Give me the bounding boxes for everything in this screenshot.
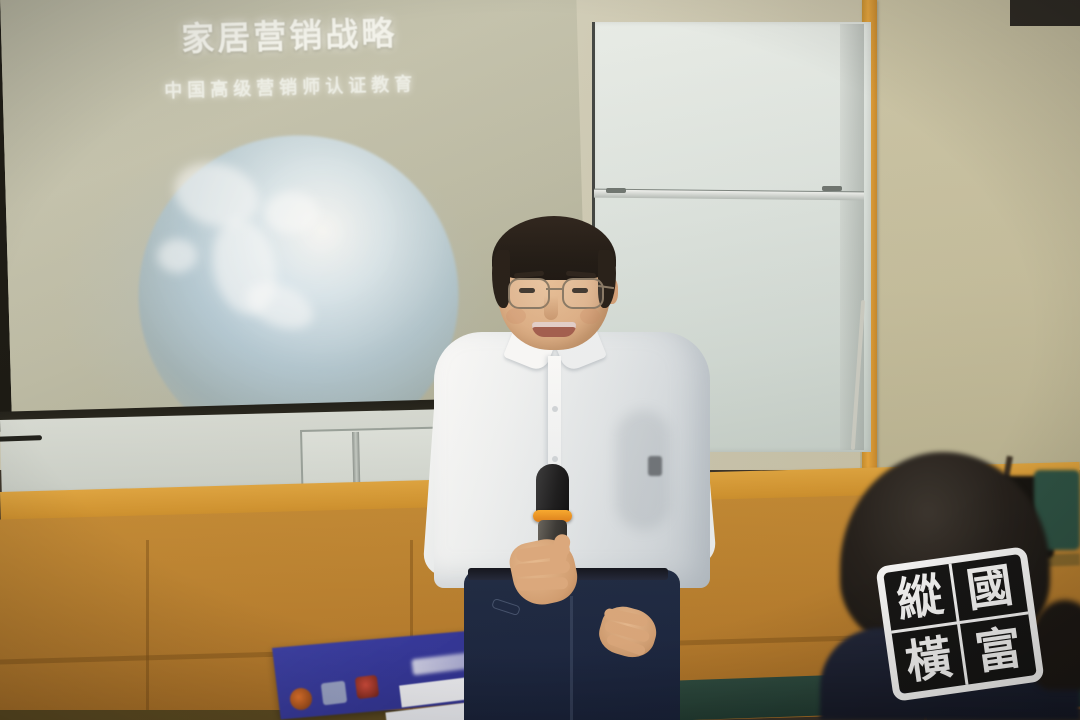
slide-subtitle: 中国高级营销师认证教育 bbox=[2, 65, 579, 107]
nose bbox=[544, 296, 558, 320]
finger bbox=[516, 577, 568, 591]
cheek bbox=[506, 308, 526, 324]
shirt-pocket bbox=[648, 456, 662, 476]
glasses-bridge bbox=[546, 288, 562, 290]
whiteboard-clip bbox=[606, 188, 626, 193]
panel-seam bbox=[146, 540, 149, 720]
trouser-seam bbox=[570, 596, 573, 720]
shirt-button bbox=[552, 456, 558, 462]
speaker bbox=[420, 210, 720, 720]
shirt-button bbox=[552, 406, 558, 412]
slide-title: 家居营销战略 bbox=[1, 2, 578, 66]
banner-logo bbox=[355, 675, 380, 700]
whiteboard-clip bbox=[822, 186, 842, 191]
ceiling-shadow bbox=[1010, 0, 1080, 26]
mouth bbox=[532, 322, 576, 337]
right-wall bbox=[860, 0, 1080, 470]
seal-border bbox=[875, 546, 1044, 702]
banner-logo bbox=[321, 681, 348, 706]
photo-scene: 家居营销战略 中国高级营销师认证教育 bbox=[0, 0, 1080, 720]
whiteboard-right-edge bbox=[840, 24, 864, 450]
cheek bbox=[580, 308, 600, 324]
watermark-seal: 縱 國 橫 富 bbox=[875, 546, 1044, 702]
glasses-lens-right bbox=[562, 278, 604, 309]
microphone-head bbox=[536, 464, 569, 516]
